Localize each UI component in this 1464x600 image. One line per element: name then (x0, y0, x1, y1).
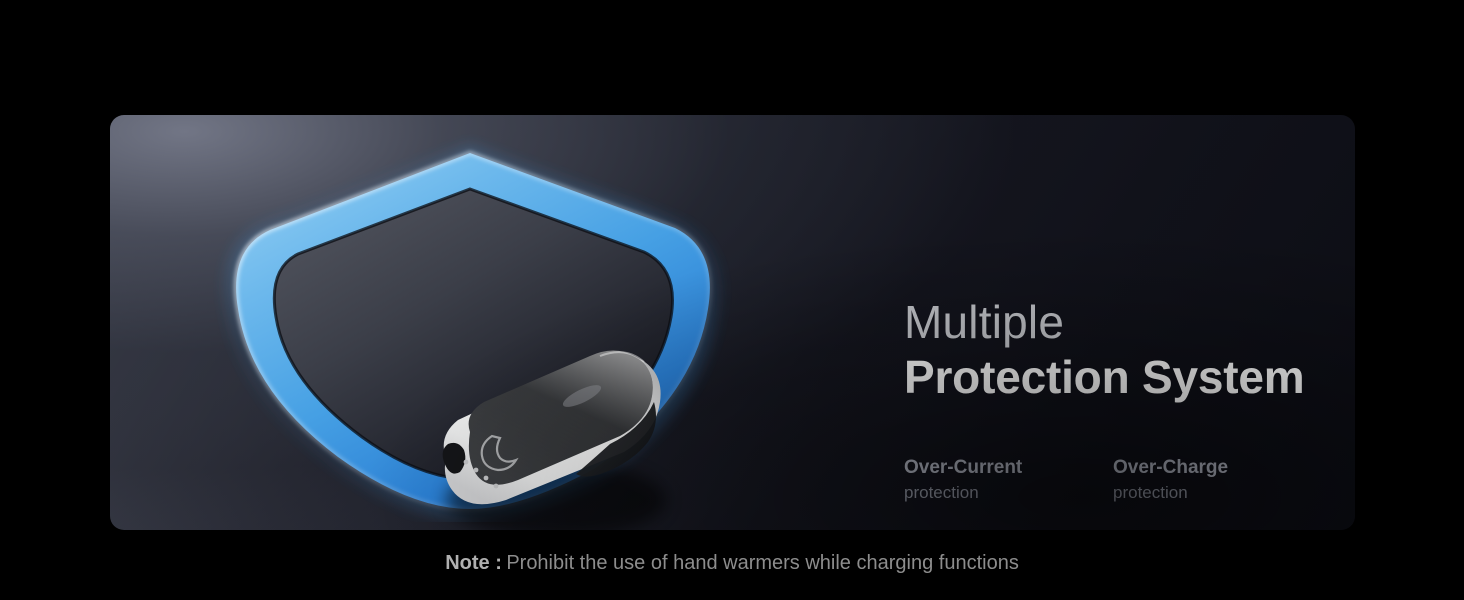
note-text: Prohibit the use of hand warmers while c… (506, 552, 1019, 574)
promo-banner: Multiple Protection System Over-Current … (0, 0, 1464, 600)
feature-title: Over-Current (904, 455, 1113, 481)
hero-panel: Multiple Protection System Over-Current … (110, 115, 1355, 530)
note-label: Note : (445, 552, 502, 574)
feature-item-over-charge: Over-Charge protection (1113, 455, 1322, 505)
hand-warmer-device-icon (410, 340, 690, 530)
feature-title: Over-Charge (1113, 455, 1322, 481)
feature-subtitle: protection (1113, 481, 1322, 505)
feature-grid: Over-Current protection Over-Charge prot… (904, 455, 1324, 530)
headline-light: Multiple (904, 295, 1334, 349)
note-row: Note : Prohibit the use of hand warmers … (0, 552, 1464, 575)
headline-block: Multiple Protection System (904, 295, 1334, 405)
page-title: Protection System (904, 349, 1334, 405)
feature-item-over-current: Over-Current protection (904, 455, 1113, 505)
feature-subtitle: protection (904, 481, 1113, 505)
